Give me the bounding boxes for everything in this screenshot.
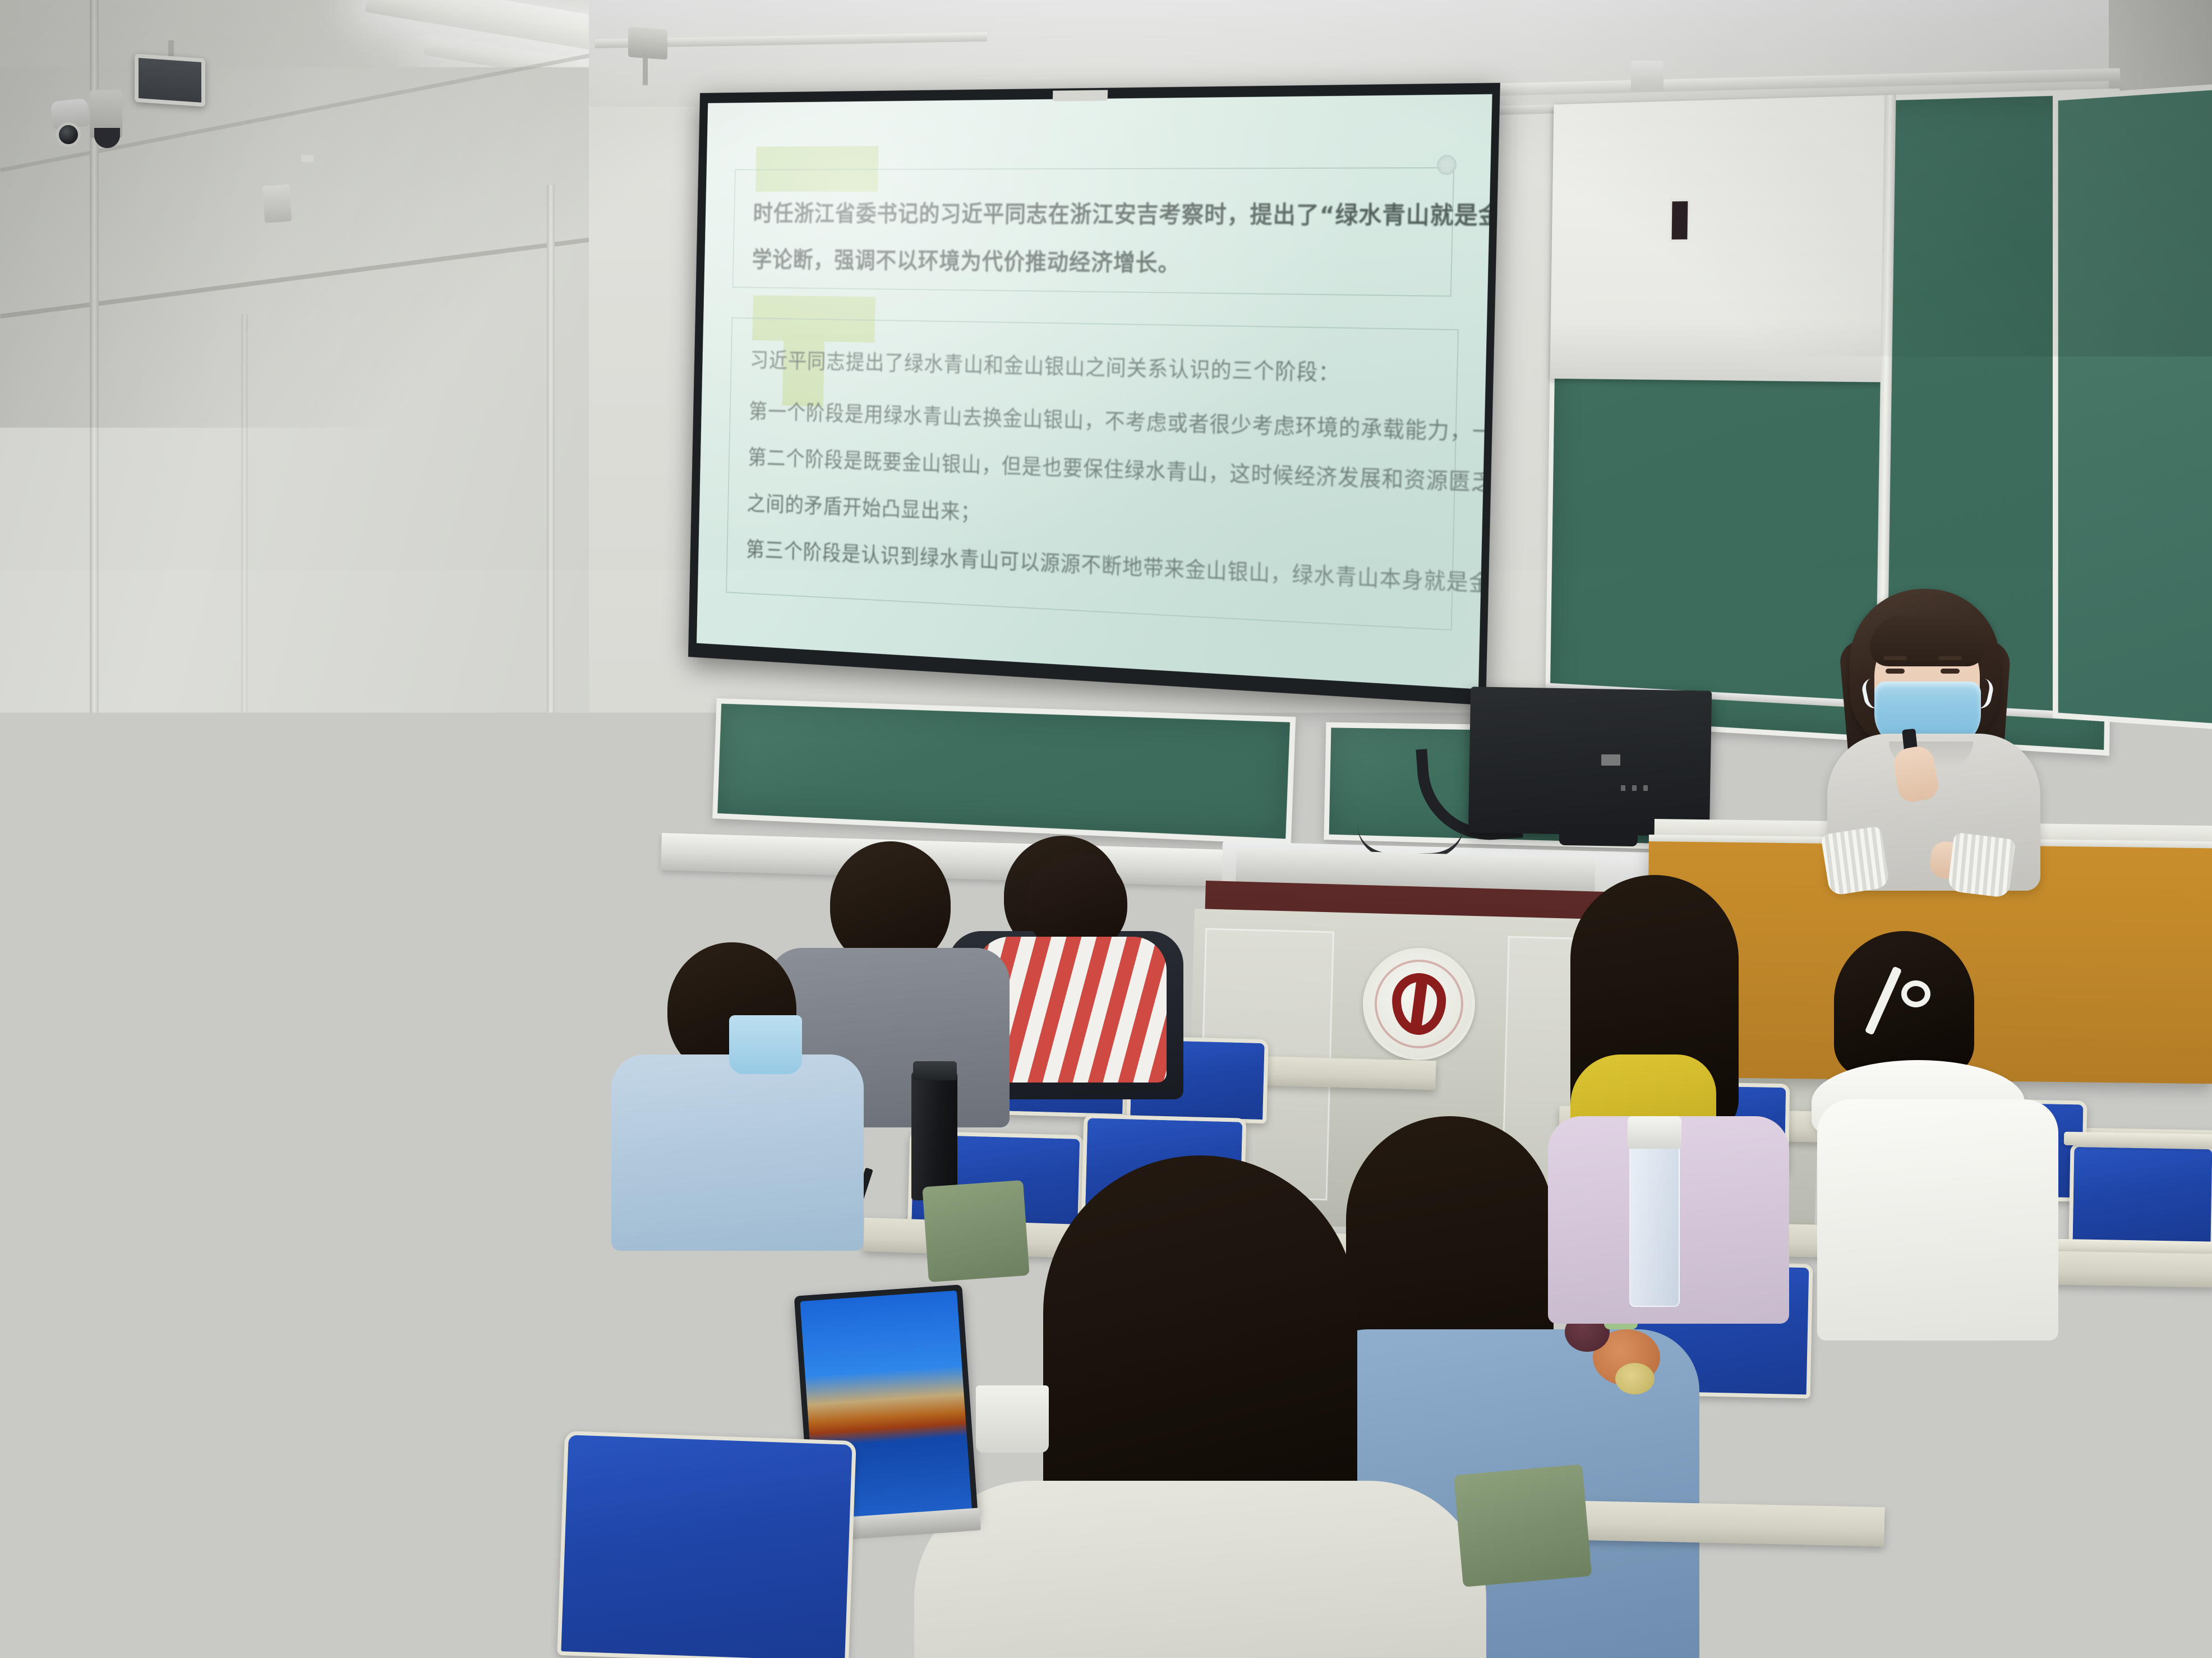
student-head — [1834, 931, 1974, 1077]
roller-shade[interactable] — [1550, 95, 1890, 382]
monitor-stand — [1559, 823, 1638, 846]
notebook[interactable] — [1389, 1560, 1561, 1642]
slide-text-box-one — [732, 167, 1454, 297]
screen-pull-tab[interactable] — [1053, 90, 1108, 101]
lecturer — [1812, 589, 2053, 886]
speaker-icon — [135, 54, 205, 107]
screen-frame: 时任浙江省委书记的习近平同志在浙江安吉考察时，提出了“绿水青山就是金山银山”的科… — [688, 83, 1500, 706]
wall-outlet-icon[interactable] — [262, 184, 292, 223]
student-torso — [611, 1054, 864, 1251]
pin-badge-icon — [1615, 1363, 1655, 1394]
lecturer-eye — [1886, 669, 1905, 674]
hair-clip-ring — [1901, 980, 1930, 1007]
lecture-seat[interactable] — [557, 1431, 856, 1658]
speaker-led — [301, 154, 314, 163]
slide-line: 时任浙江省委书记的习近平同志在浙江安吉考察时，提出了“绿水青山就是金山银山”的科 — [753, 196, 1492, 232]
water-bottle[interactable] — [1629, 1139, 1680, 1307]
floral-embroidery — [292, 1161, 353, 1195]
face-mask-icon — [729, 1015, 802, 1074]
green-bag[interactable] — [922, 1180, 1029, 1282]
student-torso — [1817, 1099, 2058, 1341]
lecturer-eyebrow — [1938, 656, 1962, 660]
seat-armrest — [2064, 1132, 2212, 1148]
student-hair — [0, 1223, 179, 1514]
lecturer-eye — [1941, 669, 1960, 674]
wall-device-icon — [1669, 199, 1690, 242]
glasses-icon — [67, 1031, 118, 1057]
paper-cup[interactable] — [976, 1385, 1049, 1453]
projector-rod — [643, 54, 648, 85]
chalkboard-far-right — [2053, 84, 2212, 729]
classroom-photo: 时任浙江省委书记的习近平同志在浙江安吉考察时，提出了“绿水青山就是金山银山”的科… — [0, 0, 2212, 1658]
console-monitor[interactable] — [1468, 687, 1712, 836]
projector-mount-icon — [628, 27, 667, 60]
card-item[interactable] — [1391, 1481, 1464, 1542]
lecture-seat[interactable] — [31, 1525, 328, 1658]
bottle-cap[interactable] — [1628, 1116, 1681, 1149]
slide-canvas: 时任浙江省委书记的习近平同志在浙江安吉考察时，提出了“绿水青山就是金山银山”的科… — [697, 94, 1492, 689]
thermos-cap[interactable] — [913, 1061, 957, 1080]
wall-pilaster — [547, 185, 555, 914]
lecturer-eyebrow — [1883, 656, 1907, 660]
student-hair — [191, 931, 337, 1155]
monitor-buttons[interactable] — [1621, 785, 1655, 791]
lecturer-cuff-left — [1821, 826, 1890, 896]
monitor-logo — [1601, 754, 1620, 766]
thermos[interactable] — [911, 1071, 957, 1200]
camera-lens-icon — [56, 122, 81, 147]
wall-outlet-icon[interactable] — [1631, 61, 1663, 91]
lecture-seat[interactable] — [2068, 1143, 2212, 1247]
slide-line: 学论断，强调不以环境为代价推动经济增长。 — [752, 242, 1181, 278]
wall-pilaster — [241, 314, 248, 931]
projection-screen[interactable]: 时任浙江省委书记的习近平同志在浙江安吉考察时，提出了“绿水青山就是金山银山”的科… — [688, 83, 1500, 706]
lecturer-cuff-right — [1947, 832, 2016, 899]
lecture-seat[interactable] — [1995, 1434, 2212, 1658]
